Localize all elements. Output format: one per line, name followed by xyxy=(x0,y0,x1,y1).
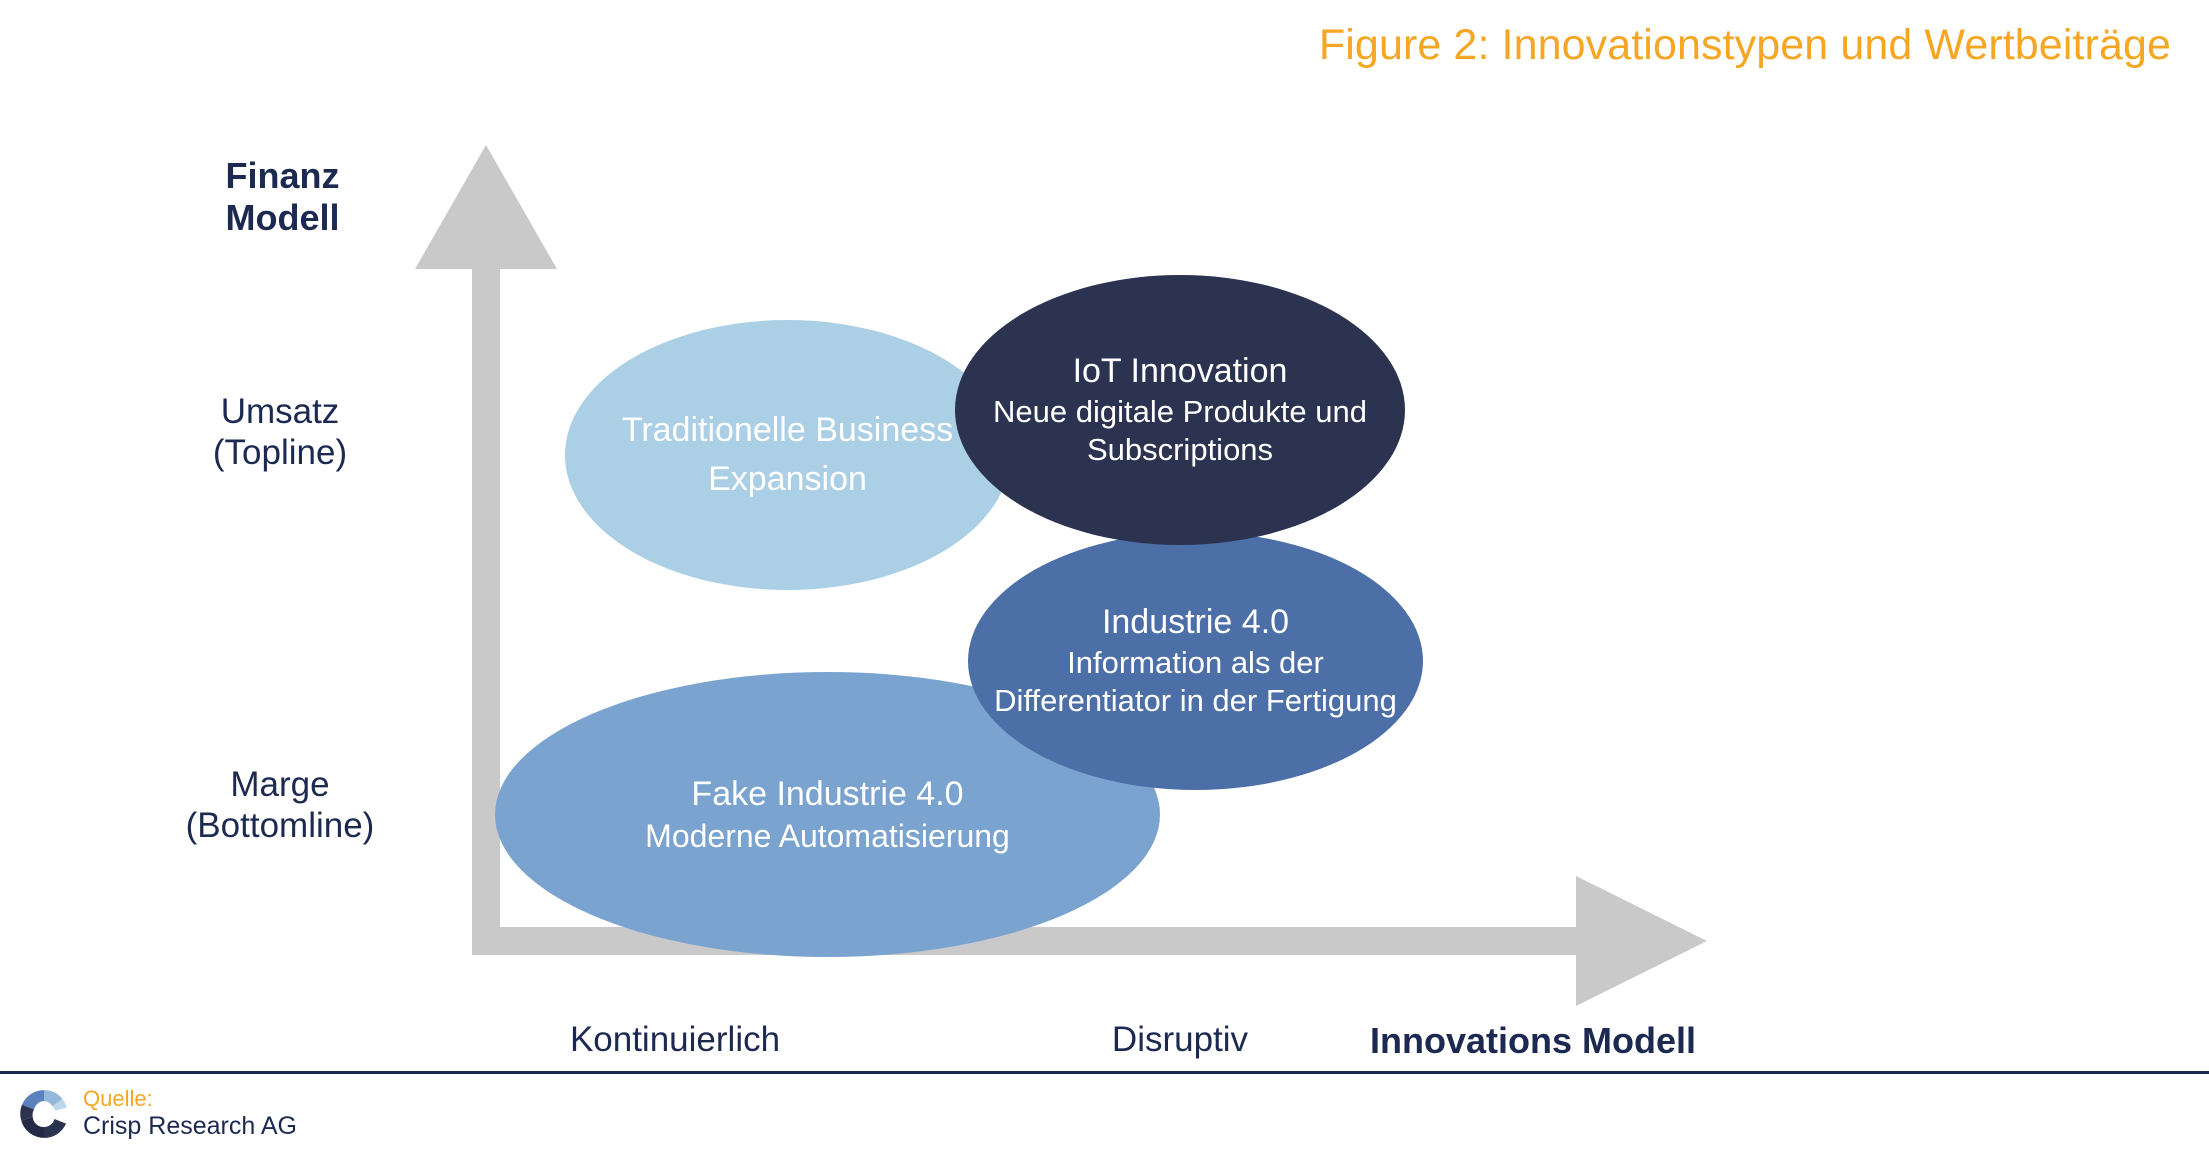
footer-divider xyxy=(0,1071,2209,1074)
y-axis-tick-marge: Marge (Bottomline) xyxy=(140,765,420,846)
crisp-research-logo-icon xyxy=(18,1088,70,1140)
bubble-subtext: Moderne Automatisierung xyxy=(505,816,1150,856)
x-axis-arrowhead-icon xyxy=(1576,876,1707,1006)
footer-source-label: Quelle: xyxy=(83,1086,297,1112)
bubble-iot-innovation[interactable]: IoT Innovation Neue digitale Produkte un… xyxy=(955,275,1405,545)
bubble-subtext: Information als der Differentiator in de… xyxy=(978,644,1413,722)
y-axis-arrowhead-icon xyxy=(415,145,557,269)
bubble-industrie-40[interactable]: Industrie 4.0 Information als der Differ… xyxy=(968,532,1423,790)
y-axis-tick-umsatz: Umsatz (Topline) xyxy=(155,392,405,473)
bubble-headline: Traditionelle Business Expansion xyxy=(575,406,1000,505)
bubble-subtext: Neue digitale Produkte und Subscriptions xyxy=(965,393,1395,471)
y-axis-title: Finanz Modell xyxy=(180,155,385,239)
x-axis-tick-kontinuierlich: Kontinuierlich xyxy=(520,1020,830,1061)
footer-source-name: Crisp Research AG xyxy=(83,1112,297,1142)
x-axis-title: Innovations Modell xyxy=(1370,1020,1750,1062)
footer-source: Quelle: Crisp Research AG xyxy=(18,1086,297,1141)
bubble-headline: Fake Industrie 4.0 xyxy=(505,773,1150,816)
footer-text: Quelle: Crisp Research AG xyxy=(83,1086,297,1141)
bubble-text: Industrie 4.0 Information als der Differ… xyxy=(968,601,1423,721)
bubble-traditional-business-expansion[interactable]: Traditionelle Business Expansion xyxy=(565,320,1010,590)
bubble-headline: IoT Innovation xyxy=(965,350,1395,393)
bubble-text: IoT Innovation Neue digitale Produkte un… xyxy=(955,350,1405,470)
figure-title: Figure 2: Innovationstypen und Wertbeitr… xyxy=(1319,22,2171,69)
bubble-text: Fake Industrie 4.0 Moderne Automatisieru… xyxy=(495,773,1160,856)
slide-canvas: Figure 2: Innovationstypen und Wertbeitr… xyxy=(0,0,2209,1157)
x-axis-tick-disruptiv: Disruptiv xyxy=(1040,1020,1320,1061)
bubble-text: Traditionelle Business Expansion xyxy=(565,406,1010,505)
bubble-headline: Industrie 4.0 xyxy=(978,601,1413,644)
